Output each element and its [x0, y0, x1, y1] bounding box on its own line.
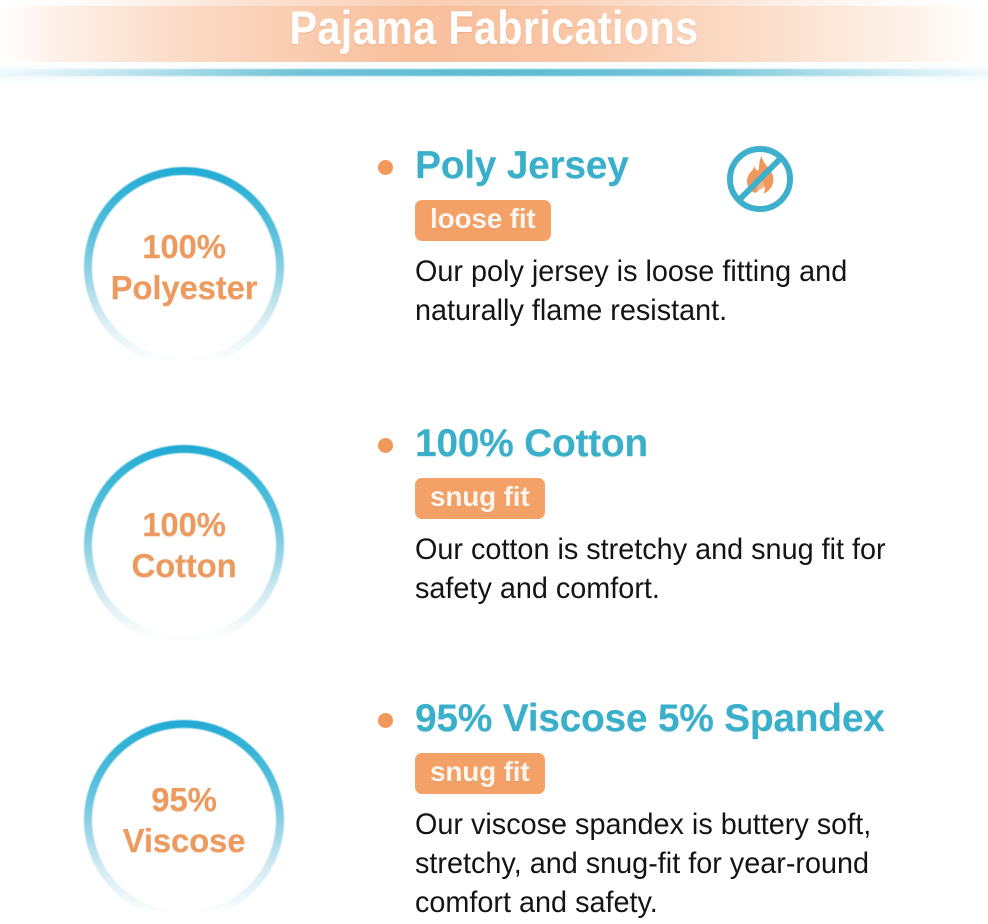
fabric-heading: 95% Viscose 5% Spandex — [415, 697, 885, 741]
circle-label: 100% Cotton — [82, 443, 286, 647]
circle-label: 100% Polyester — [82, 165, 286, 369]
fabric-content: 100% Cotton snug fit Our cotton is stret… — [378, 418, 978, 608]
fit-badge: snug fit — [415, 753, 545, 794]
circle-label-line2: Polyester — [111, 267, 258, 308]
circle-label-line2: Viscose — [123, 820, 246, 861]
bullet-icon — [378, 438, 393, 453]
header-band: Pajama Fabrications — [0, 0, 988, 62]
fabric-content: 95% Viscose 5% Spandex snug fit Our visc… — [378, 693, 978, 922]
fabric-circle-badge: 100% Cotton — [82, 443, 286, 647]
fabric-heading-line: 95% Viscose 5% Spandex — [378, 693, 978, 745]
bullet-icon — [378, 160, 393, 175]
circle-label-line1: 95% — [151, 779, 216, 820]
circle-label: 95% Viscose — [82, 718, 286, 922]
flame-resistant-icon — [720, 139, 800, 219]
page-title: Pajama Fabrications — [59, 0, 928, 62]
fit-badge: snug fit — [415, 478, 545, 519]
fabric-heading: 100% Cotton — [415, 422, 648, 466]
circle-label-line2: Cotton — [131, 545, 236, 586]
fabric-description: Our cotton is stretchy and snug fit for … — [415, 530, 938, 608]
fabric-circle-badge: 100% Polyester — [82, 165, 286, 369]
fabric-heading: Poly Jersey — [415, 144, 629, 188]
header-divider — [0, 69, 988, 76]
circle-label-line1: 100% — [142, 226, 226, 267]
fabric-circle-badge: 95% Viscose — [82, 718, 286, 922]
bullet-icon — [378, 713, 393, 728]
fabric-heading-line: 100% Cotton — [378, 418, 978, 470]
circle-label-line1: 100% — [142, 504, 226, 545]
fabric-description: Our poly jersey is loose fitting and nat… — [415, 252, 938, 330]
fabric-content: Poly Jersey loose fit Our poly jersey is… — [378, 140, 978, 330]
fabric-heading-line: Poly Jersey — [378, 140, 978, 192]
fit-badge: loose fit — [415, 200, 551, 241]
fabric-description: Our viscose spandex is buttery soft, str… — [415, 805, 938, 922]
